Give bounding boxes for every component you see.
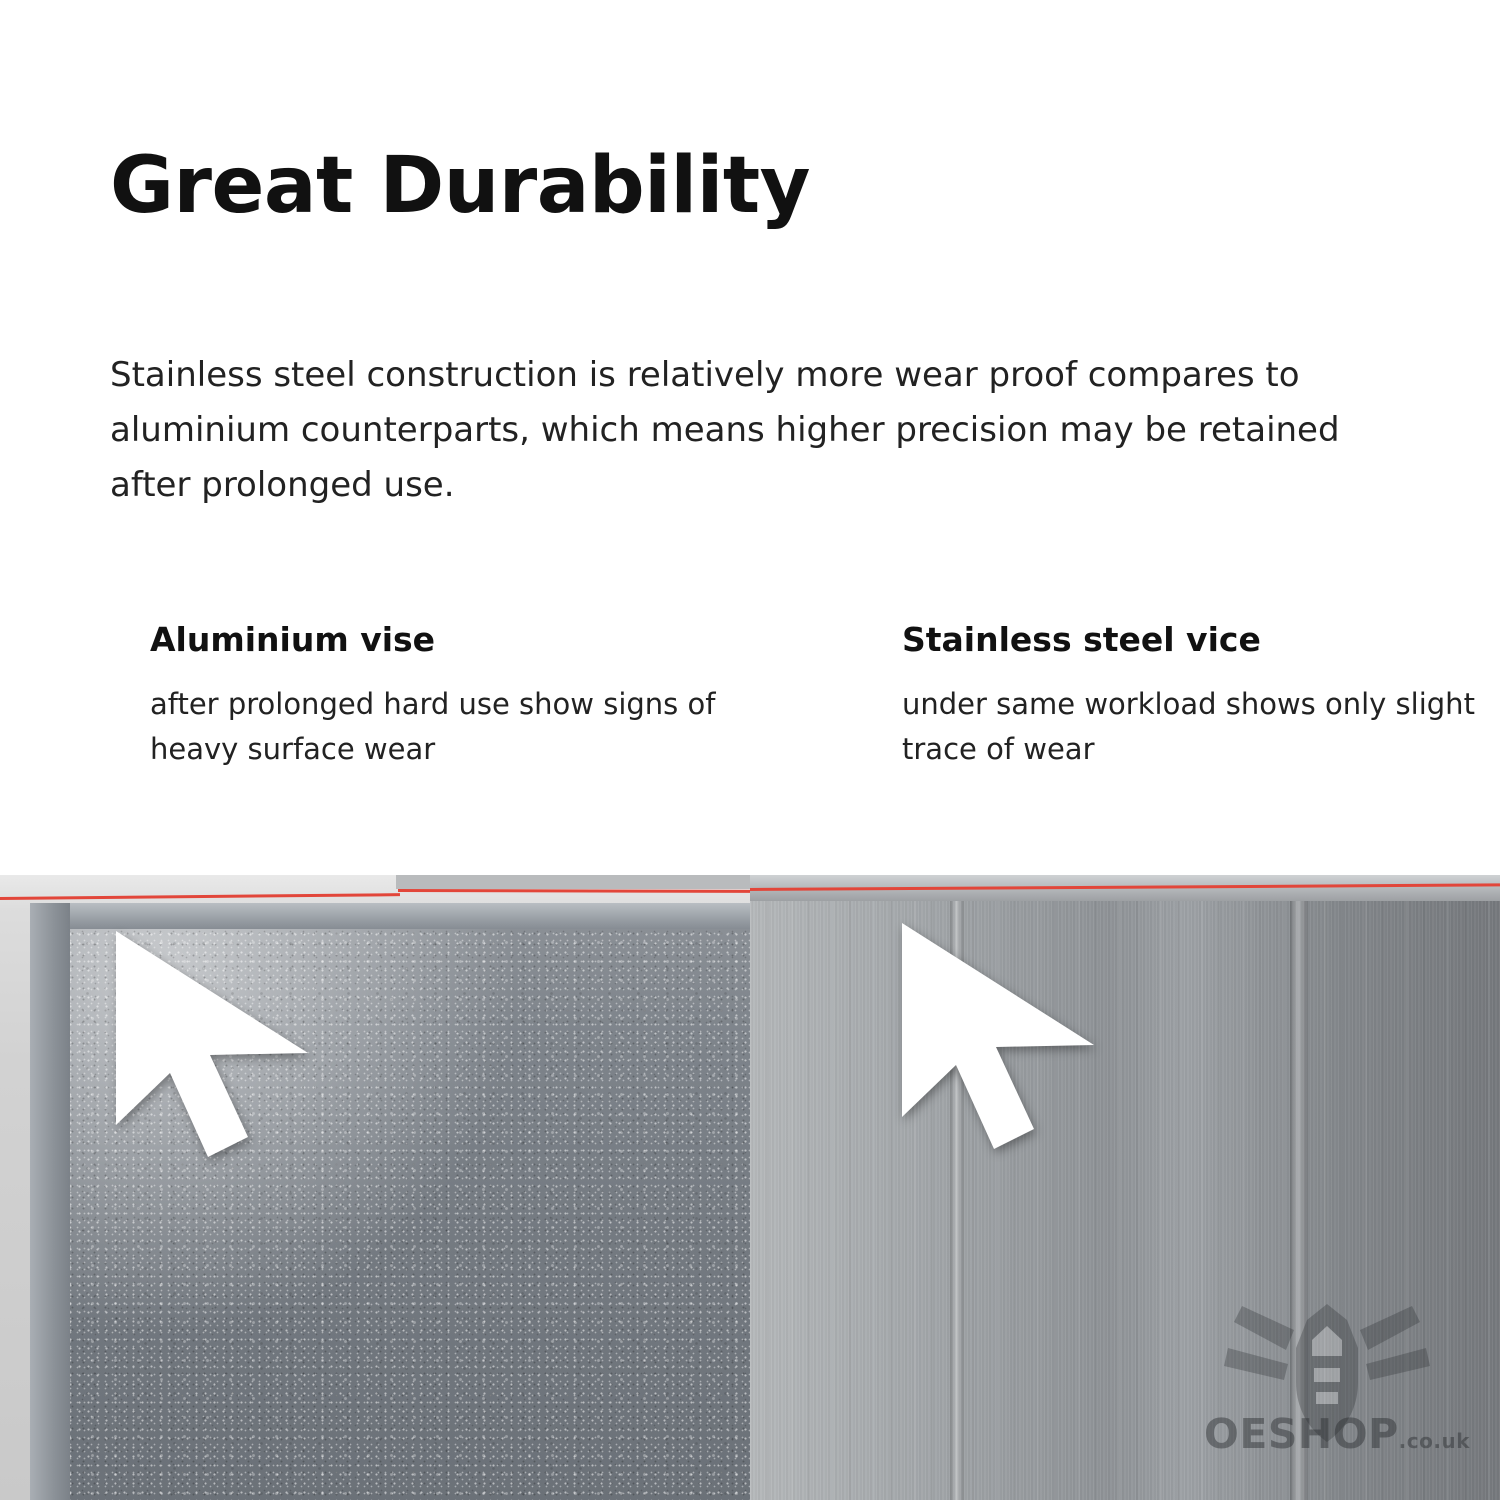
intro-paragraph: Stainless steel construction is relative… <box>110 348 1370 513</box>
infographic-page: Great Durability Stainless steel constru… <box>0 0 1500 1500</box>
aluminium-left-bevel <box>30 903 70 1500</box>
steel-brushed-texture-coarse <box>750 875 1500 1500</box>
column-stainless-description: under same workload shows only slight tr… <box>902 682 1480 774</box>
watermark-text: OESHOP.co.uk <box>1204 1410 1470 1458</box>
steel-seam-2 <box>1290 875 1308 1500</box>
page-title: Great Durability <box>110 146 810 228</box>
column-aluminium: Aluminium vise after prolonged hard use … <box>0 620 750 773</box>
photo-stainless-surface: OESHOP.co.uk <box>750 875 1500 1500</box>
aluminium-top-strip <box>396 875 750 889</box>
text-section: Great Durability Stainless steel constru… <box>0 0 1500 875</box>
column-aluminium-title: Aluminium vise <box>150 620 720 660</box>
comparison-columns: Aluminium vise after prolonged hard use … <box>0 620 1500 773</box>
watermark-brand: OESHOP <box>1204 1410 1399 1458</box>
column-stainless-title: Stainless steel vice <box>902 620 1480 660</box>
photo-aluminium-surface <box>0 875 750 1500</box>
column-stainless: Stainless steel vice under same workload… <box>750 620 1500 773</box>
pointer-cursor-icon <box>894 917 1124 1167</box>
photo-comparison-row: OESHOP.co.uk <box>0 875 1500 1500</box>
pointer-cursor-icon <box>108 925 338 1175</box>
watermark-domain: .co.uk <box>1399 1429 1470 1453</box>
column-aluminium-description: after prolonged hard use show signs of h… <box>150 682 720 774</box>
